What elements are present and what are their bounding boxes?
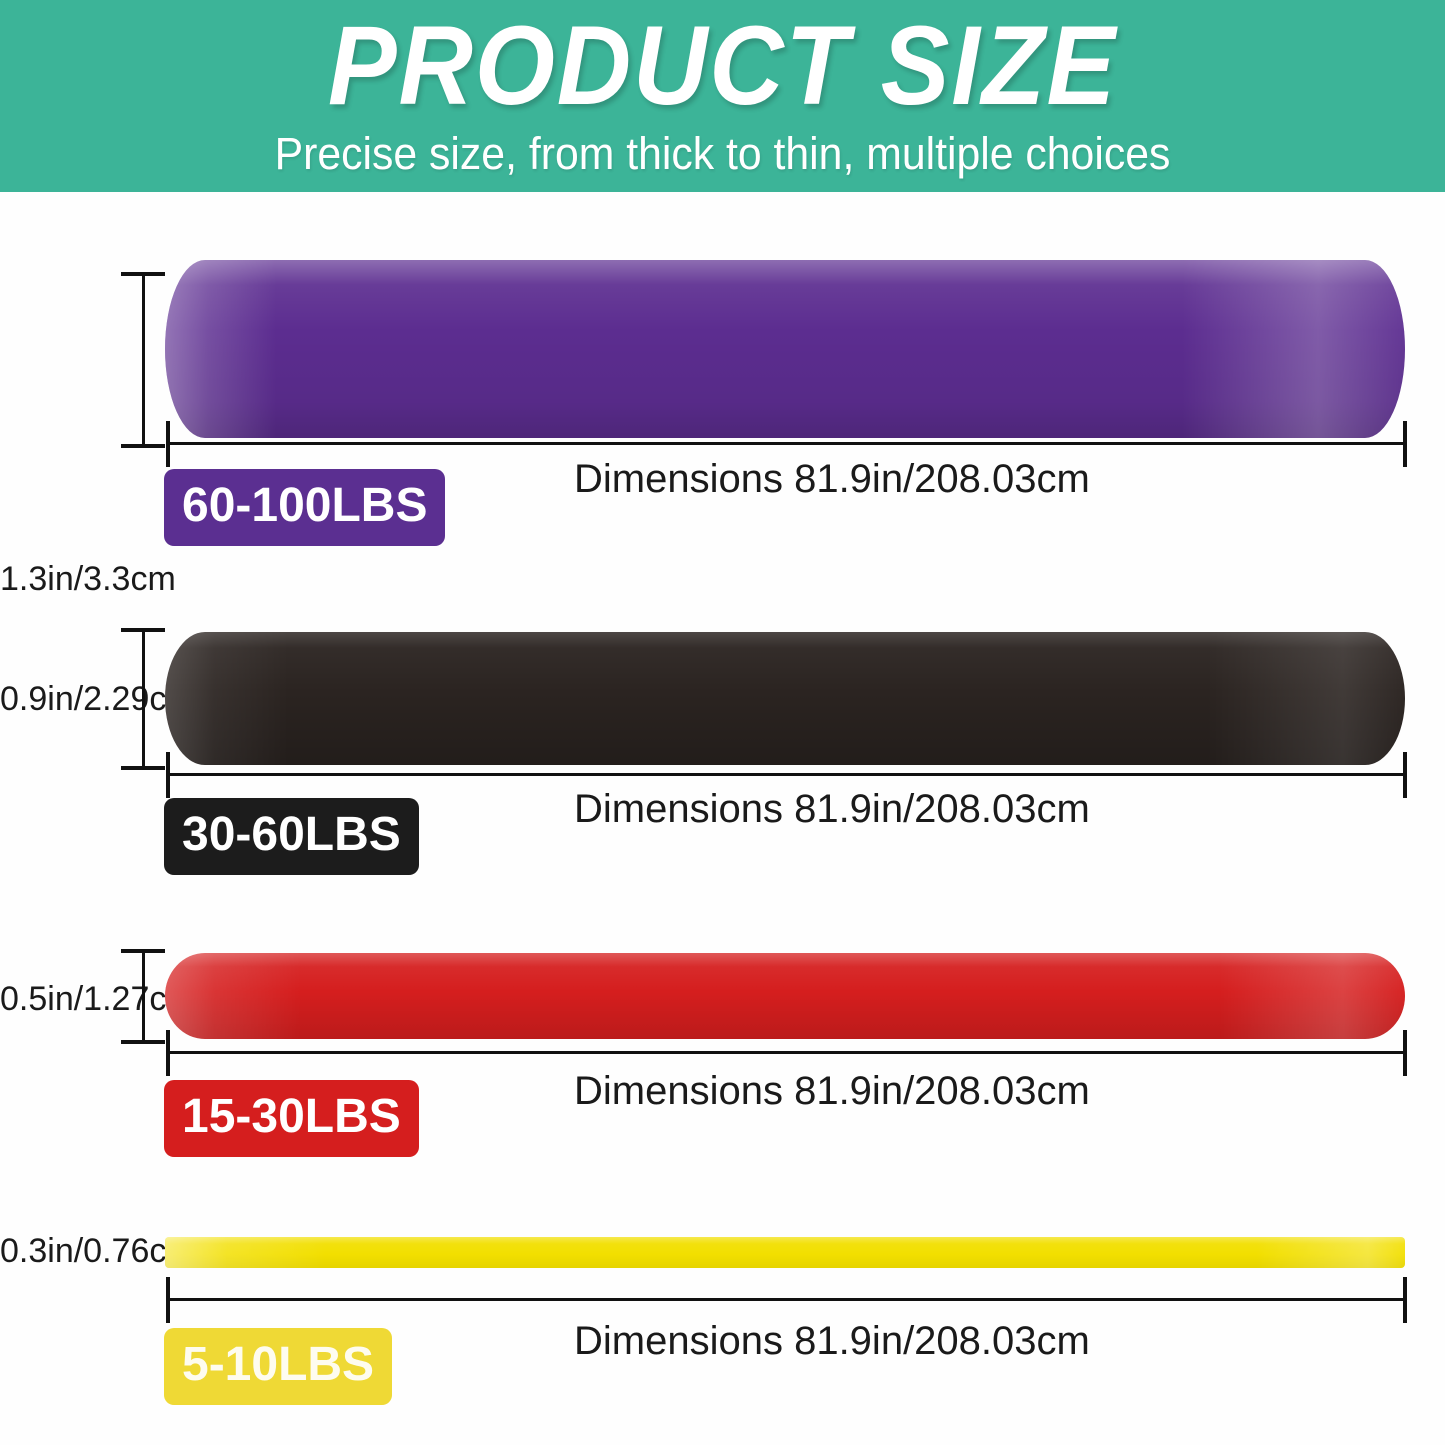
resistance-band-red <box>165 953 1405 1039</box>
length-ruler-yellow <box>166 1277 1407 1323</box>
ruler-cap-right-icon <box>1403 1277 1407 1323</box>
resistance-band-black <box>165 632 1405 765</box>
band-row-black: 0.9in/2.29cm 30-60LBS Dimensions 81.9in/… <box>0 620 1445 890</box>
thickness-label-yellow: 0.3in/0.76cml <box>0 1232 166 1270</box>
header-banner: PRODUCT SIZE Precise size, from thick to… <box>0 0 1445 192</box>
dimensions-caption-purple: Dimensions 81.9in/208.03cm <box>574 456 1090 502</box>
resistance-badge-yellow: 5-10LBS <box>164 1328 392 1405</box>
band-row-yellow: 0.3in/0.76cml 5-10LBS Dimensions 81.9in/… <box>0 1210 1445 1430</box>
resistance-badge-black: 30-60LBS <box>164 798 419 875</box>
resistance-band-purple <box>165 260 1405 438</box>
page-title: PRODUCT SIZE <box>58 8 1387 124</box>
ruler-cap-bottom-icon <box>121 766 165 770</box>
band-row-red: 0.5in/1.27cm 15-30LBS Dimensions 81.9in/… <box>0 940 1445 1170</box>
resistance-badge-red: 15-30LBS <box>164 1080 419 1157</box>
thickness-ruler-black <box>121 628 165 770</box>
ruler-cap-right-icon <box>1403 421 1407 467</box>
thickness-label-purple: 1.3in/3.3cm <box>0 560 140 598</box>
dimensions-caption-yellow: Dimensions 81.9in/208.03cm <box>574 1318 1090 1364</box>
band-sheen <box>165 1237 1405 1268</box>
ruler-line-icon <box>166 1051 1407 1054</box>
page-subtitle: Precise size, from thick to thin, multip… <box>36 128 1409 180</box>
ruler-line-icon <box>166 1298 1407 1301</box>
resistance-badge-purple: 60-100LBS <box>164 469 445 546</box>
ruler-line-icon <box>142 628 145 770</box>
ruler-cap-right-icon <box>1403 1030 1407 1076</box>
thickness-ruler-red <box>121 949 165 1044</box>
thickness-label-black: 0.9in/2.29cm <box>0 680 140 718</box>
product-size-infographic: PRODUCT SIZE Precise size, from thick to… <box>0 0 1445 1445</box>
ruler-cap-bottom-icon <box>121 444 165 448</box>
band-sheen <box>165 632 1405 765</box>
ruler-line-icon <box>142 272 145 448</box>
dimensions-caption-black: Dimensions 81.9in/208.03cm <box>574 786 1090 832</box>
resistance-band-yellow <box>165 1237 1405 1268</box>
thickness-ruler-purple <box>121 272 165 448</box>
band-row-purple: 1.3in/3.3cm 60-100LBS Dimensions 81.9in/… <box>0 250 1445 550</box>
ruler-line-icon <box>166 442 1407 445</box>
ruler-cap-right-icon <box>1403 752 1407 798</box>
ruler-cap-bottom-icon <box>121 1040 165 1044</box>
ruler-line-icon <box>142 949 145 1044</box>
ruler-line-icon <box>166 773 1407 776</box>
dimensions-caption-red: Dimensions 81.9in/208.03cm <box>574 1068 1090 1114</box>
thickness-label-red: 0.5in/1.27cm <box>0 980 140 1018</box>
band-sheen <box>165 260 1405 438</box>
band-sheen <box>165 953 1405 1039</box>
